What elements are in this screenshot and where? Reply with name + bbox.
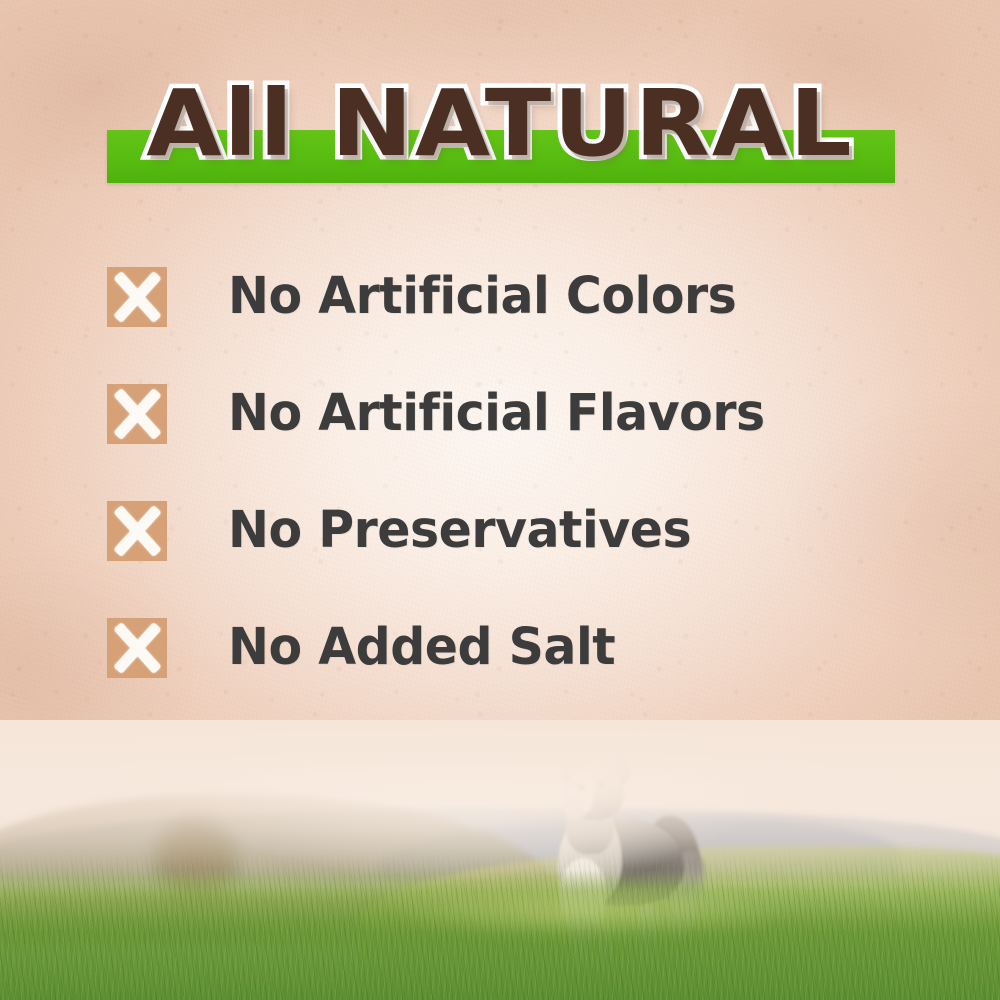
list-item: No Artificial Colors <box>107 266 927 328</box>
claim-label: No Preservatives <box>228 503 691 559</box>
list-item: No Added Salt <box>107 617 927 679</box>
headline-block: All NATURAL <box>0 78 1000 190</box>
claim-label: No Artificial Colors <box>228 269 736 325</box>
page-title: All NATURAL <box>0 78 1000 170</box>
list-item: No Artificial Flavors <box>107 383 927 445</box>
list-item: No Preservatives <box>107 500 927 562</box>
claim-label: No Artificial Flavors <box>228 386 765 442</box>
x-mark-icon <box>107 501 167 561</box>
dog-eye-left <box>578 784 585 790</box>
grass-sun-highlight <box>300 876 880 948</box>
x-mark-icon <box>107 618 167 678</box>
x-mark-icon <box>107 384 167 444</box>
claim-label: No Added Salt <box>228 620 615 676</box>
claims-list: No Artificial Colors No Artificial Flavo… <box>107 266 927 679</box>
dog-face-blaze <box>580 768 594 812</box>
dog-eye-right <box>598 782 605 788</box>
lifestyle-photo <box>0 720 1000 1000</box>
x-mark-icon <box>107 267 167 327</box>
product-feature-poster: All NATURAL No Artificial Colors No Arti… <box>0 0 1000 1000</box>
